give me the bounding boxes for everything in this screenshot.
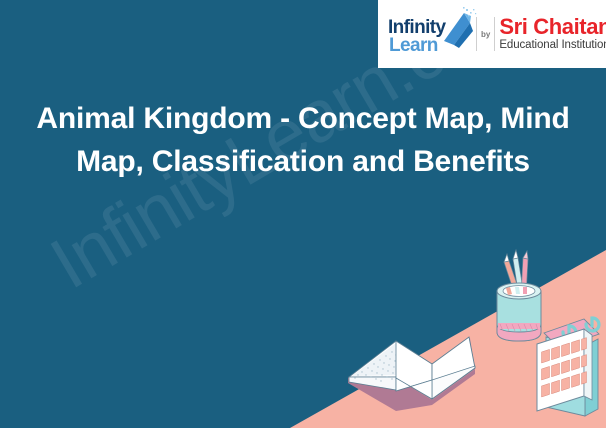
- infinity-swoosh-icon: [440, 7, 480, 51]
- sri-chaitanya-logo: Sri Chaitanya Educational Institutions: [499, 16, 600, 51]
- sri-chaitanya-tagline: Educational Institutions: [499, 39, 600, 52]
- logo-by-label: by: [481, 30, 490, 39]
- logo-divider-2: [494, 17, 495, 51]
- brand-logo-card[interactable]: Infinity Learn by Sri C: [378, 0, 606, 68]
- sri-chaitanya-wordmark: Sri Chaitanya: [499, 16, 600, 38]
- learn-wordmark: Learn: [389, 36, 438, 55]
- page-title: Animal Kingdom - Concept Map, Mind Map, …: [34, 98, 572, 183]
- poster-canvas: InfinityLearn.com: [0, 0, 606, 428]
- infinity-learn-logo: Infinity Learn: [388, 5, 474, 63]
